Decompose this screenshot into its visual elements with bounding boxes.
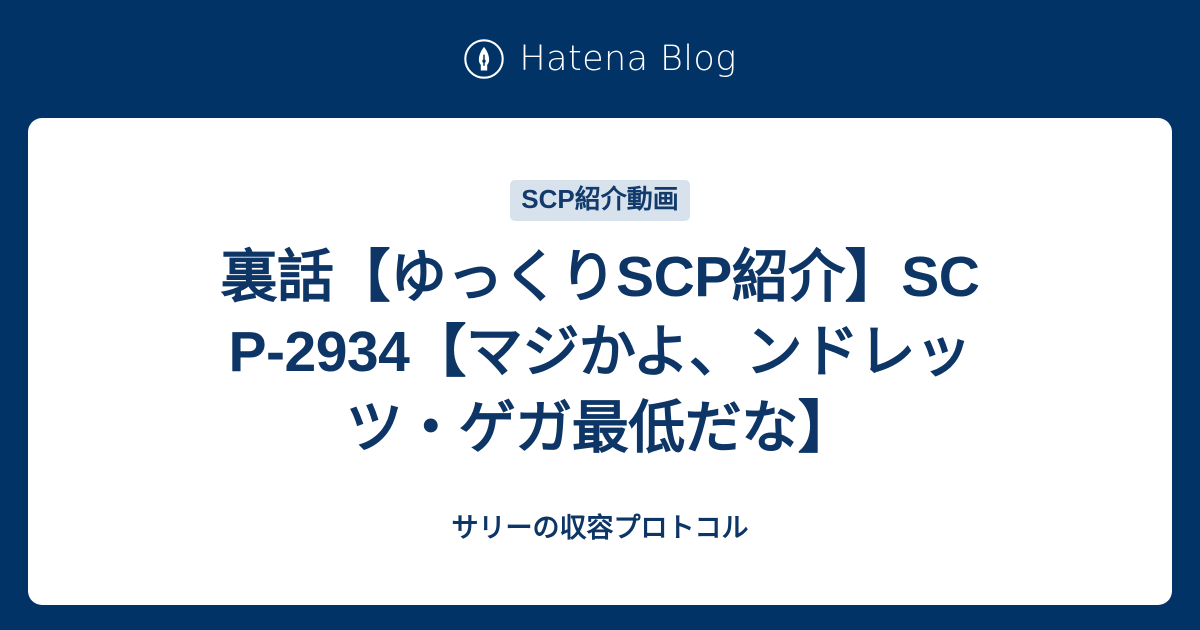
hatena-logo (463, 38, 505, 80)
entry-card: SCP紹介動画 裏話【ゆっくりSCP紹介】SCP-2934【マジかよ、ンドレッツ… (28, 118, 1172, 605)
entry-title: 裏話【ゆっくりSCP紹介】SCP-2934【マジかよ、ンドレッツ・ゲガ最低だな】 (205, 240, 995, 467)
brand-name-label: Hatena Blog (519, 42, 736, 77)
blog-name: サリーの収容プロトコル (205, 511, 995, 546)
og-image-root: Hatena Blog SCP紹介動画 裏話【ゆっくりSCP紹介】SCP-293… (0, 0, 1200, 630)
category-badge-row: SCP紹介動画 (205, 180, 995, 221)
hatena-blog-brand-bar: Hatena Blog (0, 0, 1200, 118)
entry-card-content: SCP紹介動画 裏話【ゆっくりSCP紹介】SCP-2934【マジかよ、ンドレッツ… (205, 118, 995, 546)
category-badge[interactable]: SCP紹介動画 (510, 180, 689, 221)
pen-nib-icon (463, 38, 505, 80)
